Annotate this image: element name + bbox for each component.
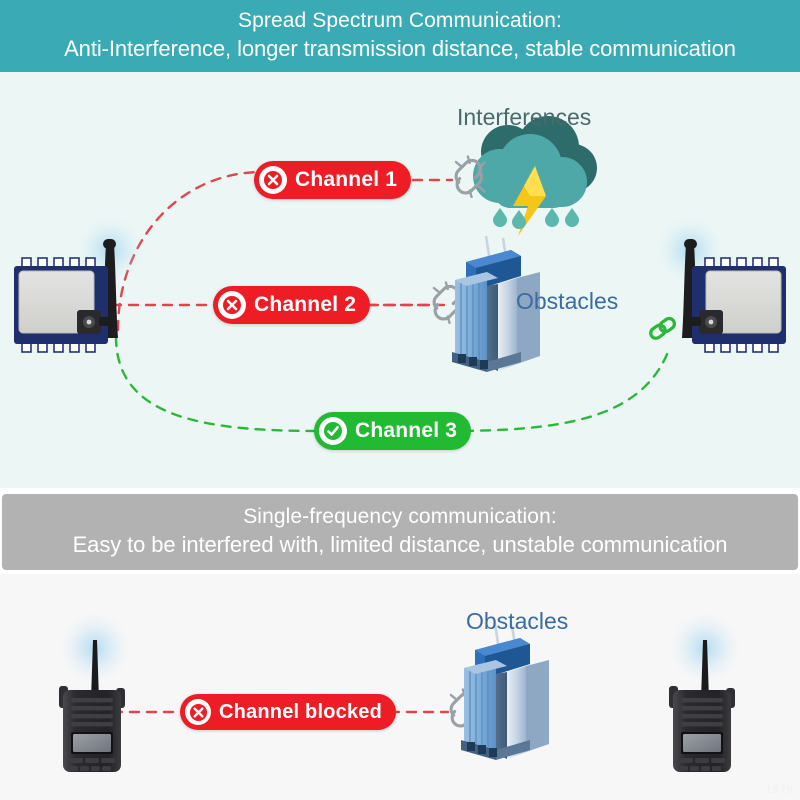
channel-blocked-label: Channel blocked bbox=[219, 701, 382, 724]
top-banner-title: Spread Spectrum Communication: bbox=[238, 8, 562, 34]
infographic-canvas: Spread Spectrum Communication: Anti-Inte… bbox=[0, 0, 800, 800]
bottom-banner: Single-frequency communication: Easy to … bbox=[2, 494, 798, 570]
bottom-banner-subtitle: Easy to be interfered with, limited dist… bbox=[73, 530, 728, 560]
channel-1-badge[interactable]: Channel 1 bbox=[254, 161, 411, 199]
bottom-banner-title: Single-frequency communication: bbox=[243, 504, 557, 530]
single-frequency-panel bbox=[0, 574, 800, 800]
x-circle-icon bbox=[259, 166, 287, 194]
check-circle-icon bbox=[319, 417, 347, 445]
obstacles-label-top: Obstacles bbox=[516, 288, 618, 315]
top-banner-subtitle: Anti-Interference, longer transmission d… bbox=[64, 34, 736, 64]
channel-3-badge[interactable]: Channel 3 bbox=[314, 412, 471, 450]
channel-blocked-badge[interactable]: Channel blocked bbox=[180, 694, 396, 730]
interferences-label: Interferences bbox=[457, 104, 591, 131]
x-circle-icon bbox=[218, 291, 246, 319]
channel-1-label: Channel 1 bbox=[295, 168, 397, 192]
obstacles-label-bottom: Obstacles bbox=[466, 608, 568, 635]
channel-3-label: Channel 3 bbox=[355, 419, 457, 443]
x-circle-icon bbox=[185, 699, 211, 725]
top-banner: Spread Spectrum Communication: Anti-Inte… bbox=[0, 0, 800, 72]
watermark: 1979 bbox=[766, 784, 794, 796]
channel-2-label: Channel 2 bbox=[254, 293, 356, 317]
channel-2-badge[interactable]: Channel 2 bbox=[213, 286, 370, 324]
